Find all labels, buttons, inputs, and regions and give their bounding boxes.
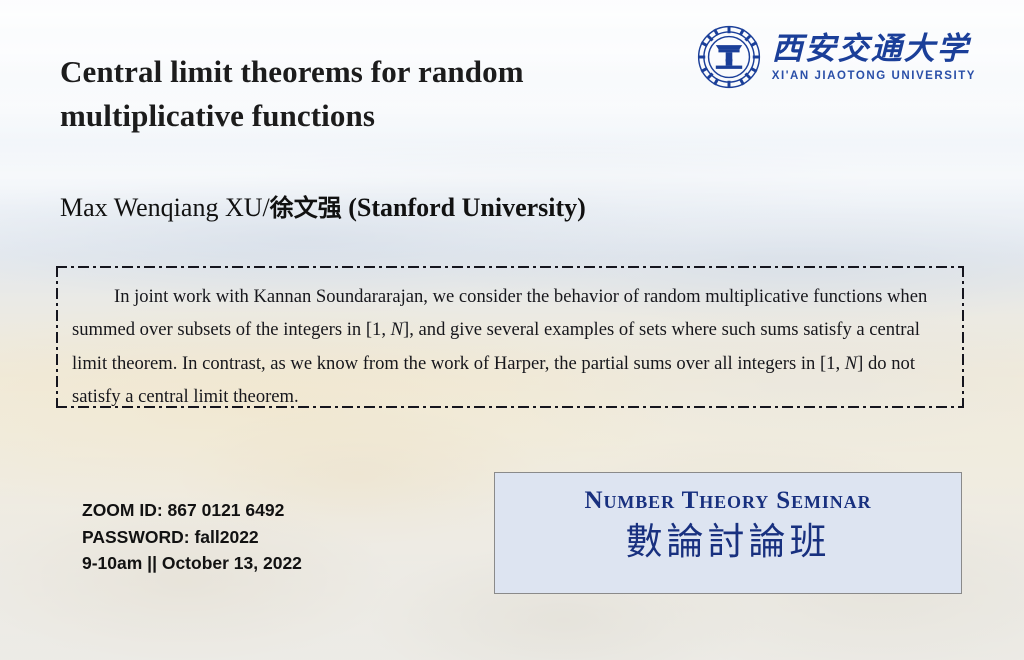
seminar-series-box: Number Theory Seminar 數論討論班 (494, 472, 962, 594)
abstract-box: In joint work with Kannan Soundararajan,… (56, 266, 964, 408)
university-name-en: XI'AN JIAOTONG UNIVERSITY (772, 70, 976, 82)
speaker-line: Max Wenqiang XU/徐文强 (Stanford University… (60, 188, 586, 223)
meeting-datetime: 9-10am || October 13, 2022 (82, 550, 302, 577)
university-name-cn: 西安交通大学 (772, 32, 976, 66)
abstract-text: In joint work with Kannan Soundararajan,… (72, 280, 948, 413)
meeting-info: ZOOM ID: 867 0121 6492 PASSWORD: fall202… (82, 497, 302, 577)
speaker-name-cn: 徐文强 (270, 194, 342, 222)
speaker-name-en: Max Wenqiang XU/ (60, 193, 270, 222)
abstract-var-n-1: N (391, 319, 403, 340)
university-seal-icon (696, 24, 762, 90)
university-logo-text: 西安交通大学 XI'AN JIAOTONG UNIVERSITY (772, 32, 976, 81)
seminar-poster: 西安交通大学 XI'AN JIAOTONG UNIVERSITY Central… (0, 0, 1024, 660)
abstract-var-n-2: N (845, 353, 857, 374)
seminar-title-en: Number Theory Seminar (495, 487, 961, 515)
university-logo: 西安交通大学 XI'AN JIAOTONG UNIVERSITY (696, 24, 976, 90)
seminar-title-cn: 數論討論班 (495, 521, 961, 564)
speaker-affiliation: (Stanford University) (348, 193, 586, 222)
zoom-password: PASSWORD: fall2022 (82, 524, 302, 551)
zoom-id: ZOOM ID: 867 0121 6492 (82, 497, 302, 524)
talk-title: Central limit theorems for random multip… (60, 50, 700, 138)
